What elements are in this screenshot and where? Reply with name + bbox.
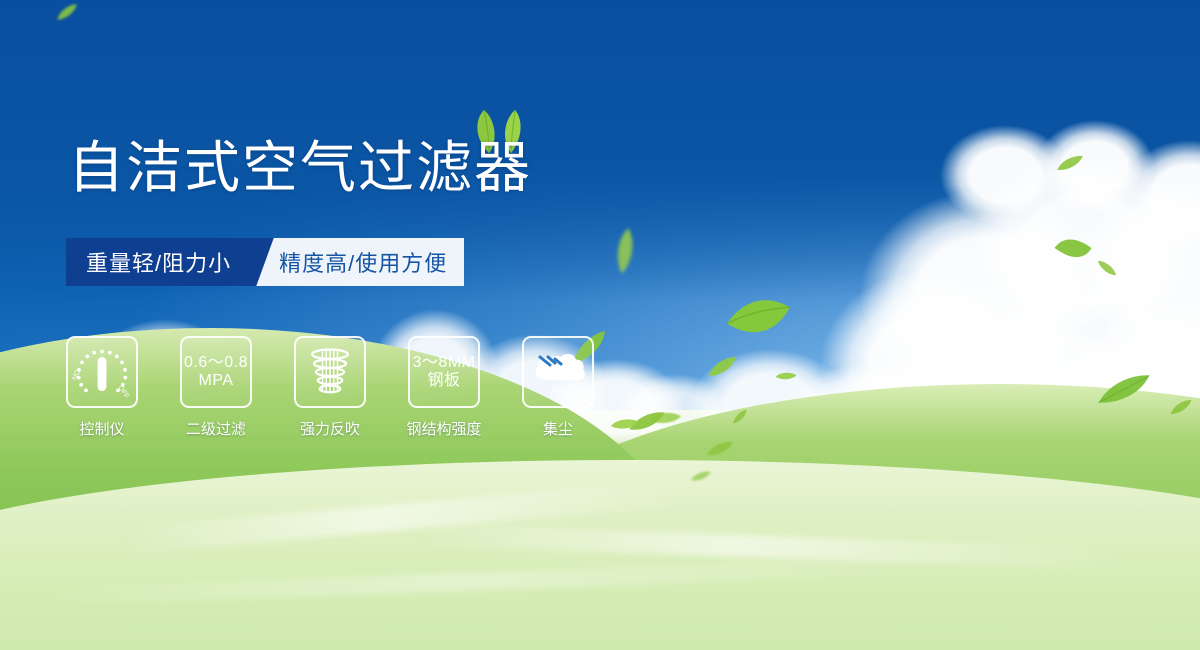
air-caption: Air — [551, 383, 566, 397]
feature-label: 强力反吹 — [300, 418, 360, 439]
feature-item-filter[interactable]: 0.6～0.8 MPA 二级过滤 — [180, 336, 252, 439]
steel-value-line1: 3～8MM — [413, 354, 476, 372]
feature-item-steel[interactable]: 3～8MM 钢板 钢结构强度 — [408, 336, 480, 439]
steel-value-line2: 钢板 — [413, 372, 476, 390]
feature-label: 控制仪 — [79, 418, 124, 439]
subtitle-bar: 重量轻/阻力小 精度高/使用方便 — [66, 238, 464, 286]
product-banner: 自洁式空气过滤器 重量轻/阻力小 精度高/使用方便 — [0, 0, 1200, 650]
svg-text:NO: NO — [71, 369, 82, 382]
control-dial-icon: NO OFF — [66, 336, 138, 408]
coil-filter-icon — [294, 336, 366, 408]
pressure-value-line1: 0.6～0.8 — [184, 354, 248, 372]
feature-item-control[interactable]: NO OFF 控制仪 — [66, 336, 138, 439]
feature-row: NO OFF 控制仪 0.6～0.8 MPA 二级过滤 — [66, 336, 594, 439]
subtitle-left-segment: 重量轻/阻力小 — [66, 238, 249, 286]
pressure-text-icon: 0.6～0.8 MPA — [180, 336, 252, 408]
feature-item-dust[interactable]: Air 集尘 — [522, 336, 594, 439]
banner-content: 自洁式空气过滤器 重量轻/阻力小 精度高/使用方便 — [0, 0, 1200, 650]
air-cloud-icon: Air — [522, 336, 594, 408]
subtitle-right-segment: 精度高/使用方便 — [249, 238, 464, 286]
feature-label: 二级过滤 — [186, 418, 246, 439]
feature-item-blowback[interactable]: 强力反吹 — [294, 336, 366, 439]
pressure-value-line2: MPA — [184, 372, 248, 390]
feature-label: 集尘 — [543, 418, 573, 439]
feature-label: 钢结构强度 — [407, 418, 482, 439]
steel-plate-text-icon: 3～8MM 钢板 — [408, 336, 480, 408]
page-title: 自洁式空气过滤器 — [68, 140, 532, 196]
